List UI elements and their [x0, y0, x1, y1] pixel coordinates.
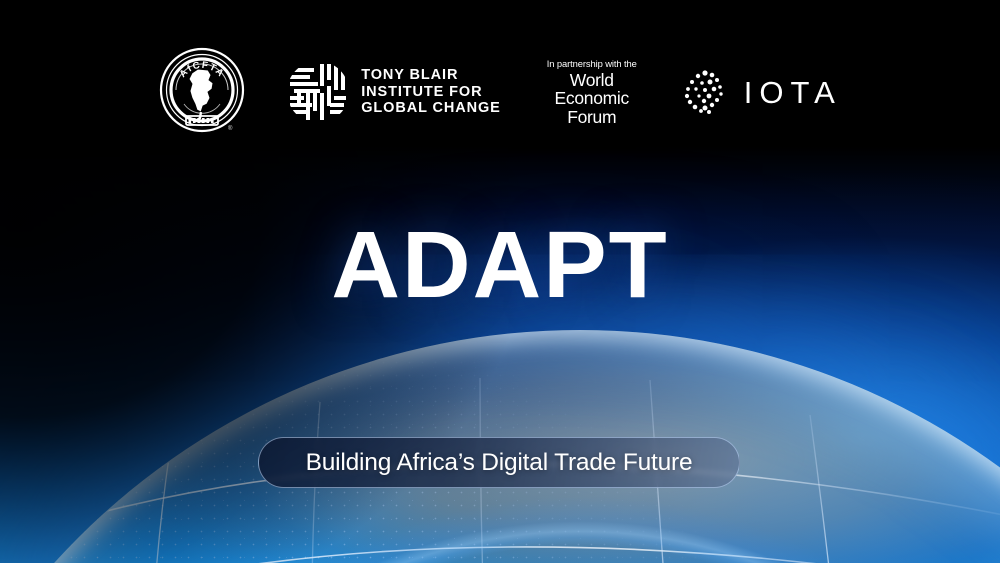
wef-line-1: World	[547, 71, 637, 90]
tbi-line-1: TONY BLAIR	[361, 67, 501, 84]
logo-world-economic-forum: In partnership with the World Economic F…	[547, 58, 637, 127]
iota-wordmark: IOTA	[744, 77, 842, 108]
partner-logo-row: AfCFTA ®	[0, 46, 1000, 138]
tbi-line-2: INSTITUTE FOR	[361, 84, 501, 101]
tbi-weave-icon	[286, 60, 350, 124]
tbi-wordmark: TONY BLAIR INSTITUTE FOR GLOBAL CHANGE	[361, 67, 501, 117]
presentation-slide: AfCFTA ®	[0, 0, 1000, 563]
slide-title: ADAPT	[0, 218, 1000, 313]
tbi-line-3: GLOBAL CHANGE	[361, 100, 501, 117]
wef-kicker: In partnership with the	[547, 58, 637, 69]
wef-line-3: Forum	[547, 108, 637, 127]
wef-line-2: Economic	[547, 89, 637, 108]
svg-text:®: ®	[228, 125, 233, 132]
logo-iota: IOTA	[679, 66, 842, 118]
iota-swirl-icon	[679, 66, 731, 118]
logo-afcfta: AfCFTA ®	[158, 46, 246, 138]
slide-subtitle-pill: Building Africa’s Digital Trade Future	[258, 437, 740, 488]
slide-title-text: ADAPT	[331, 218, 668, 313]
slide-subtitle-text: Building Africa’s Digital Trade Future	[306, 450, 693, 476]
afcfta-seal-icon: AfCFTA ®	[158, 46, 246, 138]
logo-tony-blair-institute: TONY BLAIR INSTITUTE FOR GLOBAL CHANGE	[286, 60, 501, 124]
